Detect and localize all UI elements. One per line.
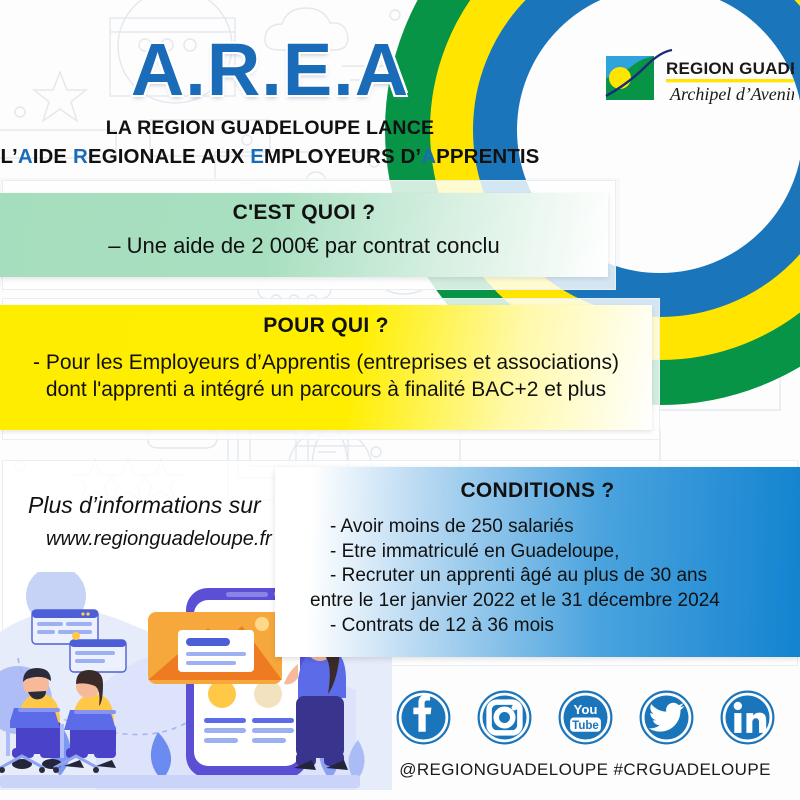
more-info-block: Plus d’informations sur www.regionguadel… bbox=[28, 492, 272, 551]
subtitle-segment-8: PPRENTIS bbox=[436, 145, 539, 168]
more-info-label: Plus d’informations sur bbox=[28, 492, 272, 519]
social-handles: @REGIONGUADELOUPE #CRGUADELOUPE bbox=[385, 760, 785, 780]
subtitle-segment-1: A bbox=[18, 145, 33, 168]
section-conditions: CONDITIONS ? - Avoir moins de 250 salari… bbox=[275, 467, 800, 657]
headline-block: A.R.E.A LA REGION GUADELOUPE LANCE L’AID… bbox=[0, 34, 540, 169]
subtitle-region-name: LA REGION GUADELOUPE bbox=[106, 117, 361, 139]
svg-text:You: You bbox=[573, 702, 597, 717]
subtitle-line-2: L’AIDE REGIONALE AUX EMPLOYEURS D’APPREN… bbox=[0, 145, 540, 169]
condition-item: - Recruter un apprenti âgé au plus de 30… bbox=[330, 564, 800, 589]
twitter-icon[interactable] bbox=[639, 690, 694, 750]
website-link[interactable]: www.regionguadeloupe.fr bbox=[46, 528, 272, 551]
subtitle-lance: LANCE bbox=[360, 117, 434, 139]
section-cest-quoi: C'EST QUOI ? – Une aide de 2 000€ par co… bbox=[0, 193, 608, 277]
condition-item: - Etre immatriculé en Guadeloupe, bbox=[330, 540, 800, 565]
subtitle-segment-0: L’ bbox=[1, 145, 18, 168]
section-title-quoi: C'EST QUOI ? bbox=[0, 193, 608, 225]
youtube-icon[interactable]: YouTube bbox=[558, 690, 613, 750]
logo-wordmark: REGION GUADELOUPE bbox=[666, 59, 794, 78]
instagram-icon[interactable] bbox=[477, 690, 532, 750]
section-text-qui: - Pour les Employeurs d’Apprentis (entre… bbox=[0, 338, 652, 404]
subtitle-segment-4: EGIONALE AUX bbox=[88, 145, 250, 168]
section-title-conditions: CONDITIONS ? bbox=[275, 467, 800, 503]
poster-canvas: REGION GUADELOUPE Archipel d’Avenir A.R.… bbox=[0, 0, 800, 800]
qui-line-2: dont l'apprenti a intégré un parcours à … bbox=[8, 377, 644, 404]
subtitle-segment-2: IDE bbox=[33, 145, 73, 168]
facebook-icon[interactable] bbox=[396, 690, 451, 750]
region-guadeloupe-logo: REGION GUADELOUPE Archipel d’Avenir bbox=[604, 48, 794, 110]
condition-item: - Avoir moins de 250 salariés bbox=[330, 515, 800, 540]
subtitle-segment-5: E bbox=[250, 145, 264, 168]
conditions-list: - Avoir moins de 250 salariés- Etre imma… bbox=[275, 503, 800, 638]
section-text-quoi: – Une aide de 2 000€ par contrat conclu bbox=[0, 225, 608, 259]
subtitle-segment-3: R bbox=[73, 145, 88, 168]
subtitle-segment-7: A bbox=[421, 145, 436, 168]
condition-item: - Contrats de 12 à 36 mois bbox=[330, 614, 800, 639]
logo-tagline: Archipel d’Avenir bbox=[669, 84, 794, 104]
qui-line-1: - Pour les Employeurs d’Apprentis (entre… bbox=[33, 351, 619, 374]
section-pour-qui: POUR QUI ? - Pour les Employeurs d’Appre… bbox=[0, 305, 652, 430]
subtitle-segment-6: MPLOYEURS D’ bbox=[264, 145, 421, 168]
subtitle-line-1: LA REGION GUADELOUPE LANCE bbox=[0, 117, 540, 140]
svg-text:Tube: Tube bbox=[572, 720, 599, 732]
section-title-qui: POUR QUI ? bbox=[0, 305, 652, 338]
page-title: A.R.E.A bbox=[0, 34, 540, 105]
linkedin-icon[interactable] bbox=[720, 690, 775, 750]
condition-item: entre le 1er janvier 2022 et le 31 décem… bbox=[310, 589, 800, 614]
social-icons-row: YouTube bbox=[385, 690, 785, 750]
